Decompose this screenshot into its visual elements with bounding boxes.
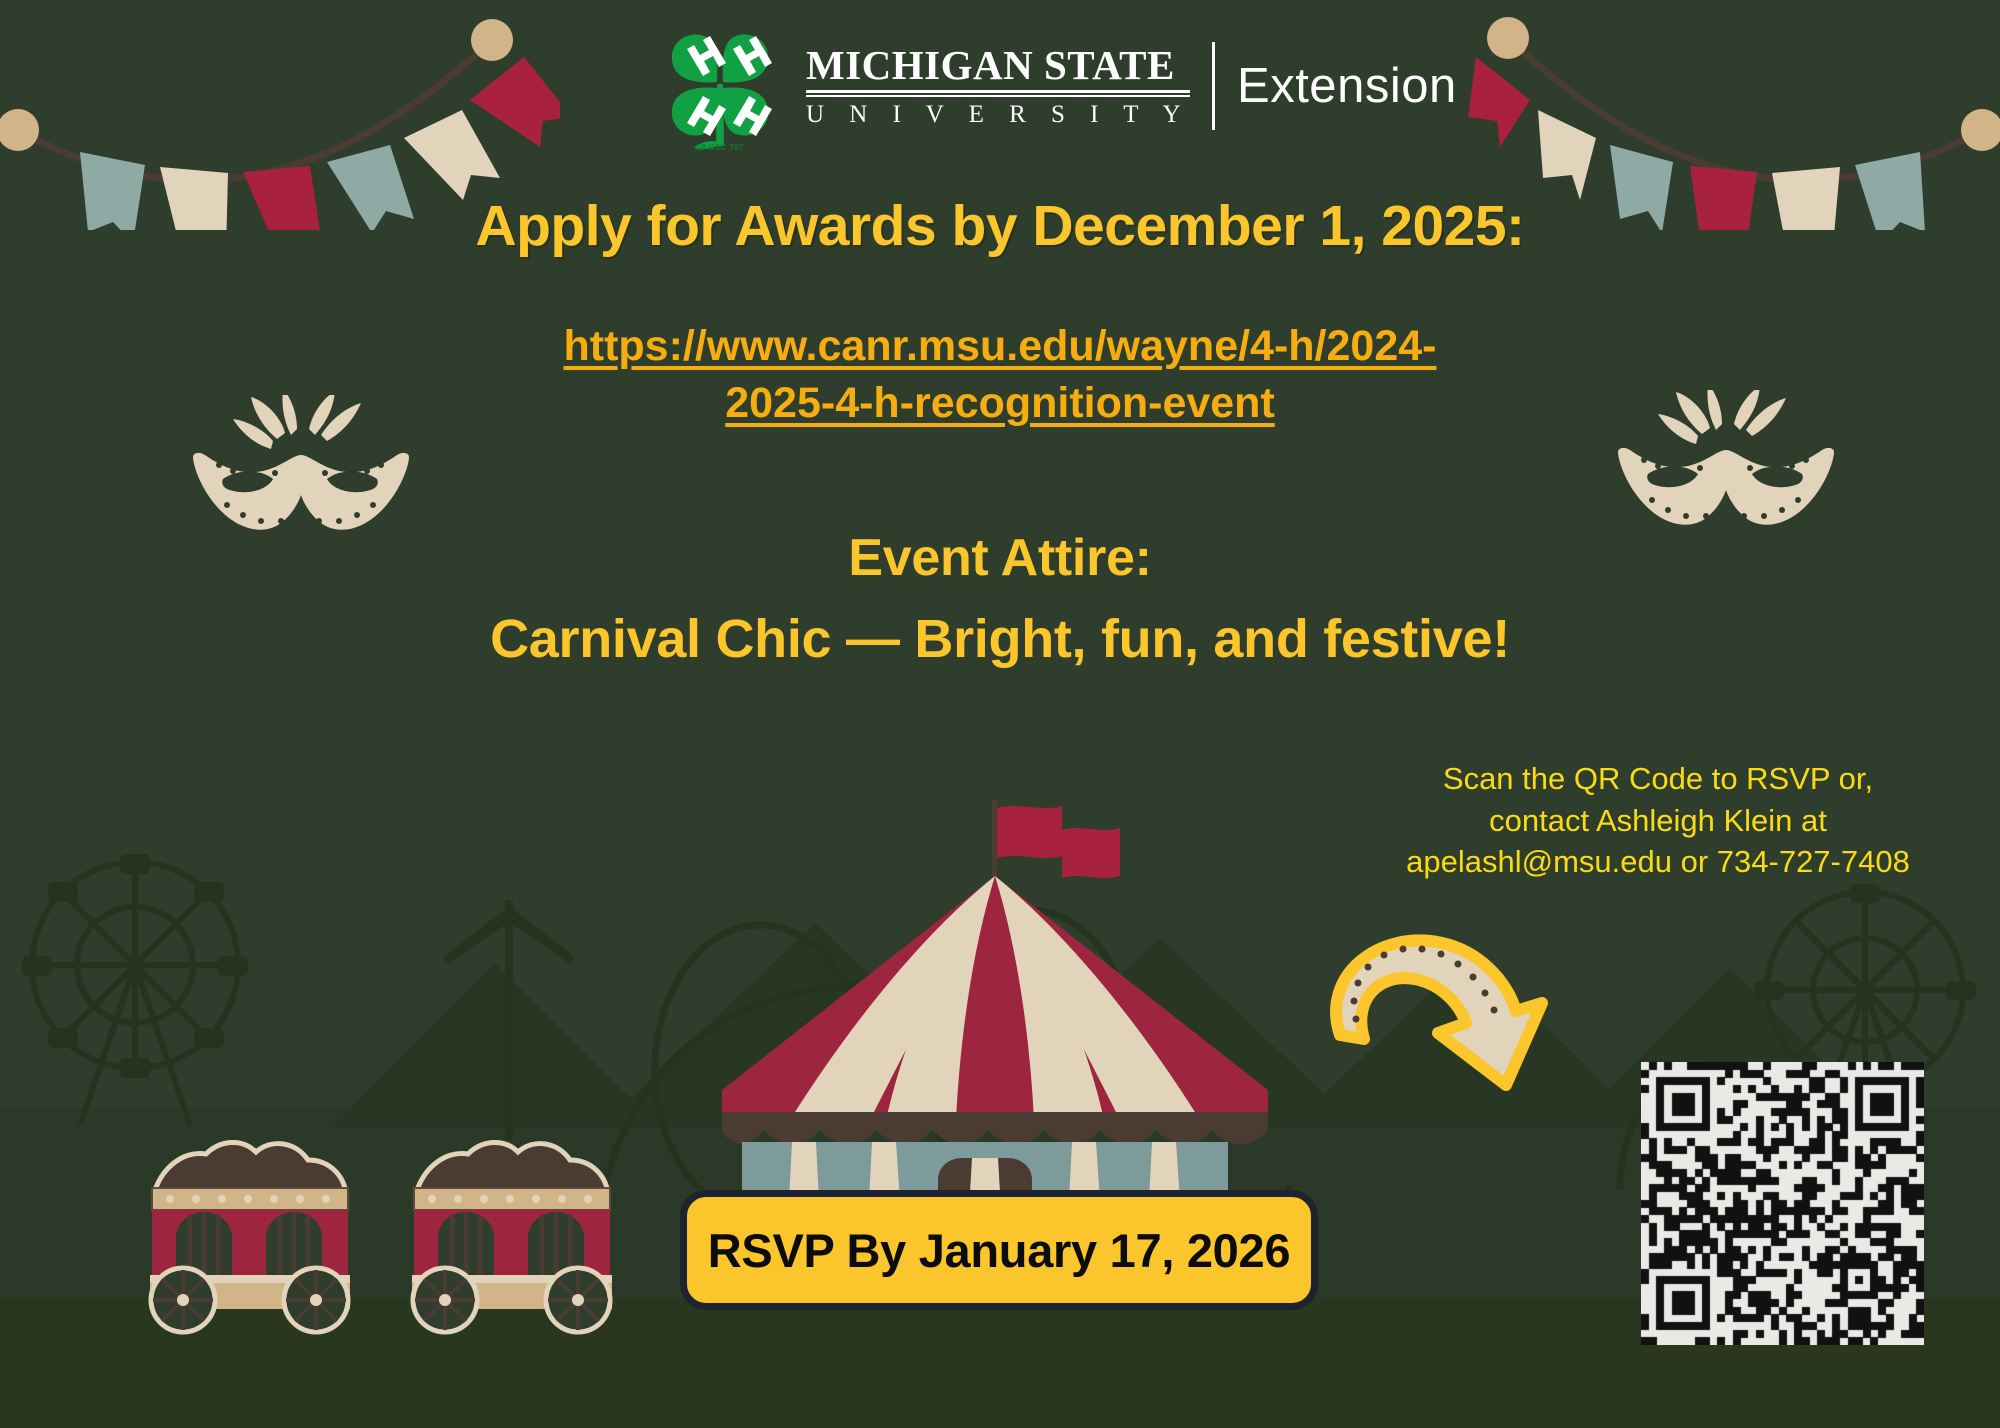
extension-label: Extension bbox=[1237, 58, 1457, 114]
university-name-line2: U N I V E R S I T Y bbox=[806, 102, 1190, 127]
rsvp-qr-code[interactable] bbox=[1641, 1062, 1924, 1345]
contact-line-2: contact Ashleigh Klein at bbox=[1378, 800, 1938, 842]
event-attire-block: Event Attire: Carnival Chic — Bright, fu… bbox=[0, 528, 2000, 670]
event-attire-value: Carnival Chic — Bright, fun, and festive… bbox=[0, 608, 2000, 670]
application-link[interactable]: https://www.canr.msu.edu/wayne/4-h/2024-… bbox=[0, 318, 2000, 432]
4-h-clover-icon: 18 USC 707 bbox=[660, 22, 780, 150]
legal-mark: 18 USC 707 bbox=[696, 143, 744, 152]
qr-canvas bbox=[1641, 1062, 1924, 1345]
msu-wordmark: MICHIGAN STATE U N I V E R S I T Y Exten… bbox=[806, 42, 1457, 130]
rsvp-deadline-button[interactable]: RSVP By January 17, 2026 bbox=[680, 1190, 1318, 1310]
wordmark-rule-thin bbox=[806, 95, 1190, 97]
ferris-wheel-left bbox=[20, 850, 250, 1140]
page-title: Apply for Awards by December 1, 2025: bbox=[0, 193, 2000, 259]
contact-block: Scan the QR Code to RSVP or, contact Ash… bbox=[1378, 758, 1938, 883]
event-attire-label: Event Attire: bbox=[0, 528, 2000, 588]
wordmark-rule-thick bbox=[806, 90, 1190, 93]
circus-wagon-2 bbox=[400, 1132, 630, 1343]
contact-line-3[interactable]: apelashl@msu.edu or 734-727-7408 bbox=[1378, 841, 1938, 883]
wordmark-divider bbox=[1212, 42, 1215, 130]
circus-wagon-1 bbox=[138, 1132, 368, 1343]
swing-ride-silhouette bbox=[380, 900, 640, 1150]
university-name-line1: MICHIGAN STATE bbox=[806, 45, 1190, 86]
application-link-line2[interactable]: 2025-4-h-recognition-event bbox=[0, 375, 2000, 432]
flyer-canvas: 18 USC 707 MICHIGAN STATE U N I V E R S … bbox=[0, 0, 2000, 1428]
curved-arrow-to-qr-icon bbox=[1310, 915, 1560, 1130]
msu-extension-logo: 18 USC 707 MICHIGAN STATE U N I V E R S … bbox=[660, 22, 1457, 150]
application-link-line1[interactable]: https://www.canr.msu.edu/wayne/4-h/2024- bbox=[0, 318, 2000, 375]
contact-line-1: Scan the QR Code to RSVP or, bbox=[1378, 758, 1938, 800]
